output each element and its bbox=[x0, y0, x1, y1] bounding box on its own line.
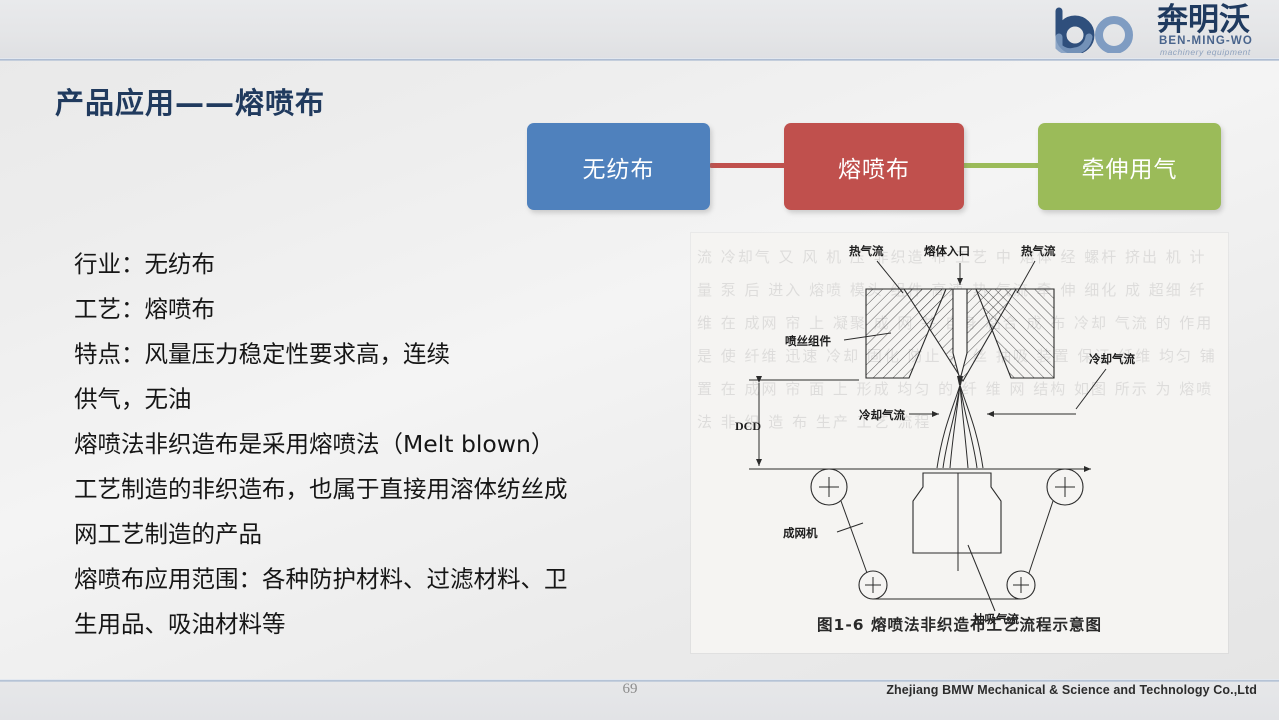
flow-connector-2 bbox=[963, 163, 1039, 168]
flow-box-meltblown[interactable]: 熔喷布 bbox=[784, 123, 964, 210]
page-number: 69 bbox=[600, 681, 660, 698]
label-melt-inlet: 熔体入口 bbox=[924, 244, 970, 258]
body-line-6: 工艺制造的非织造布，也属于直接用溶体纺丝成 bbox=[74, 467, 674, 512]
slide-canvas: 奔明沃 BEN-MING-WO machinery equipment 产品应用… bbox=[0, 0, 1279, 720]
label-cooling-air-left: 冷却气流 bbox=[859, 408, 905, 422]
flow-connector-1 bbox=[710, 163, 785, 168]
body-line-8: 熔喷布应用范围：各种防护材料、过滤材料、卫 bbox=[74, 557, 674, 602]
body-line-3: 特点：风量压力稳定性要求高，连续 bbox=[74, 332, 674, 377]
label-web-former: 成网机 bbox=[783, 526, 818, 540]
body-text-block: 行业：无纺布 工艺：熔喷布 特点：风量压力稳定性要求高，连续 供气，无油 熔喷法… bbox=[74, 242, 674, 647]
body-line-5: 熔喷法非织造布是采用熔喷法（Melt blown） bbox=[74, 422, 674, 467]
body-line-4: 供气，无油 bbox=[74, 377, 674, 422]
label-hot-air-left: 热气流 bbox=[849, 244, 884, 258]
body-line-7: 网工艺制造的产品 bbox=[74, 512, 674, 557]
footer-company-name: Zhejiang BMW Mechanical & Science and Te… bbox=[886, 683, 1257, 697]
label-dcd: DCD bbox=[735, 419, 761, 433]
label-spinneret: 喷丝组件 bbox=[785, 334, 831, 348]
label-cooling-air-right: 冷却气流 bbox=[1089, 352, 1135, 366]
body-line-2: 工艺：熔喷布 bbox=[74, 287, 674, 332]
meltblown-process-schematic: 热气流 熔体入口 热气流 喷丝组件 冷却气流 冷却气流 bbox=[691, 233, 1228, 653]
label-hot-air-right: 热气流 bbox=[1021, 244, 1056, 258]
flow-box-nonwoven[interactable]: 无纺布 bbox=[527, 123, 710, 210]
figure-caption: 图1-6 熔喷法非织造布工艺流程示意图 bbox=[691, 613, 1228, 635]
body-line-1: 行业：无纺布 bbox=[74, 242, 674, 287]
flow-box-drawing-air[interactable]: 牵伸用气 bbox=[1038, 123, 1221, 210]
flow-diagram: 无纺布 熔喷布 牵伸用气 bbox=[0, 0, 1279, 230]
body-line-9: 生用品、吸油材料等 bbox=[74, 602, 674, 647]
process-figure-image: 流 冷却气 又 风 机 压 非织造 布 工艺 中 熔体 经 螺杆 挤出 机 计量… bbox=[691, 233, 1228, 653]
